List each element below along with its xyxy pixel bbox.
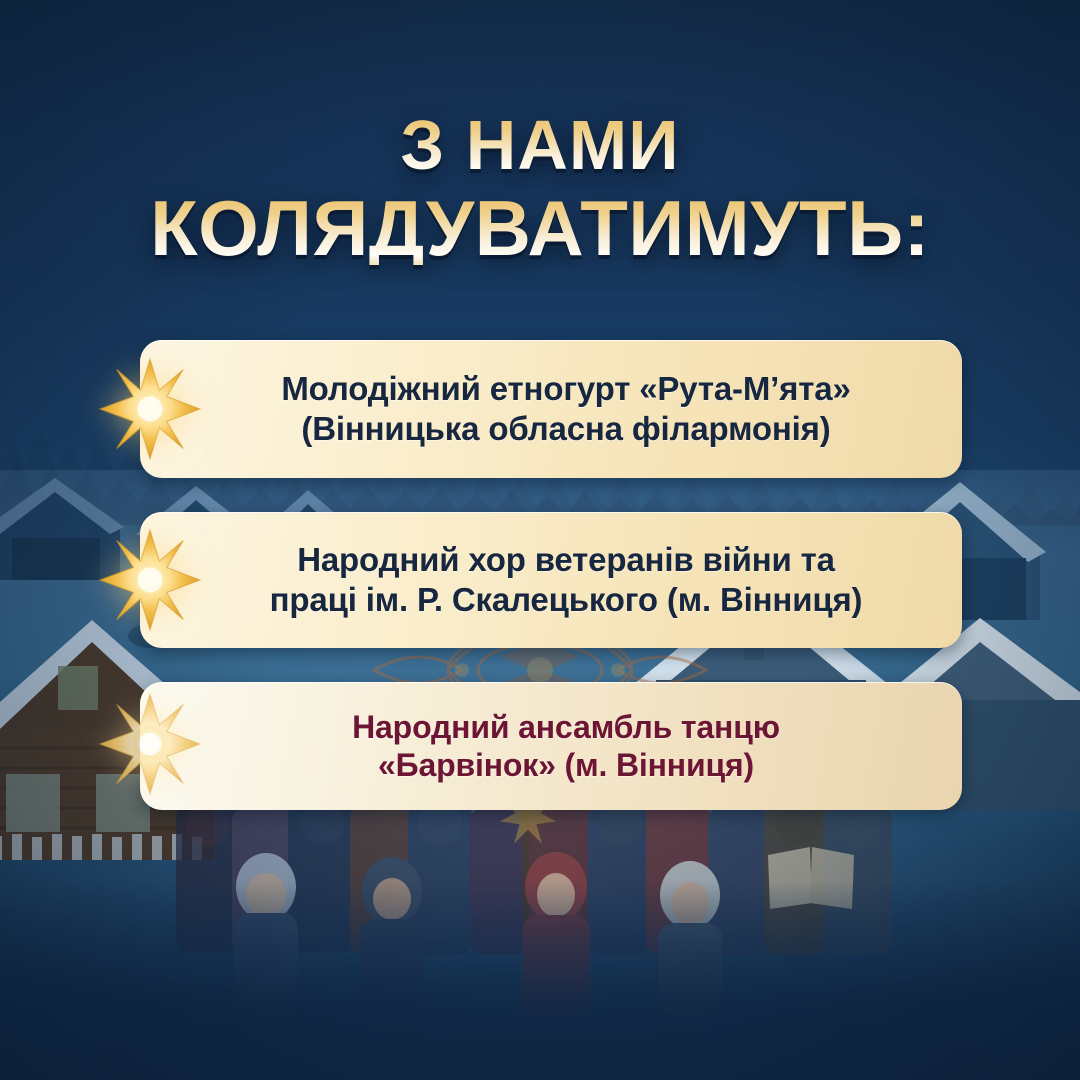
performer-2-line-2: праці ім. Р. Скалецького (м. Вінниця) [270,581,863,618]
performer-card-2-text: Народний хор ветеранів війни та праці ім… [194,540,909,619]
performer-3-line-2: «Барвінок» (м. Вінниця) [378,747,754,783]
poster-canvas: З НАМИ КОЛЯДУВАТИМУТЬ: Молодіжний етногу… [0,0,1080,1080]
performer-card-1[interactable]: Молодіжний етногурт «Рута-М’ята» (Вінниц… [140,340,962,478]
performer-card-2[interactable]: Народний хор ветеранів війни та праці ім… [140,512,962,648]
performer-1-line-1: Молодіжний етногурт «Рута-М’ята» [281,370,850,407]
performer-list-rows: Молодіжний етногурт «Рута-М’ята» (Вінниц… [0,340,1080,510]
performer-card-3-text: Народний ансамбль танцю «Барвінок» (м. В… [266,708,836,785]
performer-3-line-1: Народний ансамбль танцю [352,709,780,745]
performer-card-3[interactable]: Народний ансамбль танцю «Барвінок» (м. В… [140,682,962,810]
title-line-1: З НАМИ [0,112,1080,179]
page-title: З НАМИ КОЛЯДУВАТИМУТЬ: [0,112,1080,265]
performer-2-line-1: Народний хор ветеранів війни та [297,541,835,578]
performer-1-line-2: (Вінницька обласна філармонія) [301,410,830,447]
performer-card-1-text: Молодіжний етногурт «Рута-М’ята» (Вінниц… [205,369,896,448]
title-line-2: КОЛЯДУВАТИМУТЬ: [0,191,1080,265]
performer-list: Молодіжний етногурт «Рута-М’ята» (Вінниц… [0,340,1080,510]
